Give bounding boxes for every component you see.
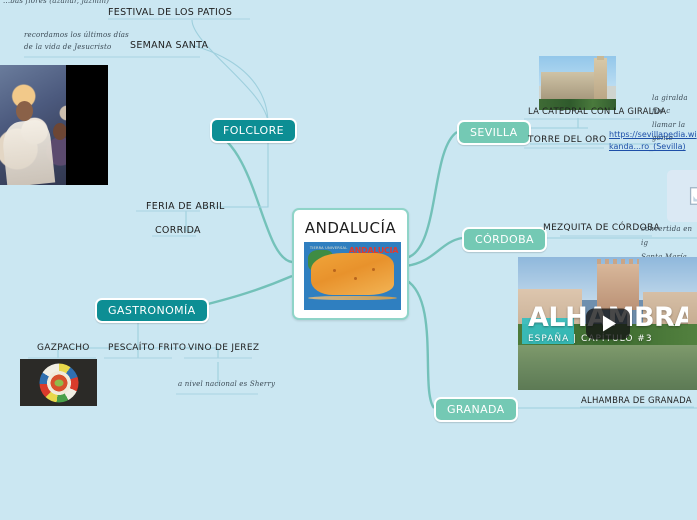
caption-la-catedral-con-la-giralda[interactable]: LA CATEDRAL CON LA GIRALDA [528, 107, 666, 117]
node-pescaito-frito[interactable]: PESCAÍTO FRITO [108, 343, 186, 353]
caption-alhambra-de-granada[interactable]: ALHAMBRA DE GRANADA [581, 396, 692, 406]
folclore-top-note: ...bas flores (azahar, jazmín) [3, 0, 109, 5]
play-icon[interactable] [586, 308, 630, 339]
central-node-andalucia[interactable]: ANDALUCÍA TIERRA UNIVERSAL ANDALUCIA [292, 208, 409, 320]
node-sevilla[interactable]: SEVILLA [457, 120, 531, 145]
vino-de-jerez-note: a nivel nacional es Sherry [178, 380, 275, 388]
node-gastronomia[interactable]: GASTRONOMÍA [95, 298, 209, 323]
mindmap-canvas[interactable]: ...bas flores (azahar, jazmín) FESTIVAL … [0, 0, 697, 520]
node-torre-del-oro[interactable]: TORRE DEL ORO [528, 135, 606, 145]
broken-image-placeholder[interactable] [667, 170, 697, 222]
node-gazpacho[interactable]: GAZPACHO [37, 343, 90, 353]
flamenco-painting-image[interactable] [0, 65, 108, 185]
broken-image-icon [686, 185, 697, 207]
node-semana-santa[interactable]: SEMANA SANTA [130, 40, 208, 51]
semana-santa-note: recordamos los últimos días de la vida d… [24, 30, 134, 54]
node-feria-de-abril[interactable]: FERIA DE ABRIL [146, 201, 225, 212]
sevilla-cathedral-image[interactable] [539, 56, 616, 110]
node-vino-de-jerez[interactable]: VINO DE JEREZ [188, 343, 259, 353]
gazpacho-photo-image[interactable] [20, 359, 97, 406]
alhambra-video-thumbnail[interactable]: ALHAMBRA ESPAÑA | CAPÍTULO #3 [518, 257, 697, 390]
andalucia-map-image[interactable]: TIERRA UNIVERSAL ANDALUCIA [304, 242, 401, 310]
node-folclore[interactable]: FOLCLORE [210, 118, 297, 143]
link-torre-del-oro[interactable]: https://sevillapedia.wikanda...ro_(Sevil… [609, 129, 697, 152]
node-festival-de-los-patios[interactable]: FESTIVAL DE LOS PATIOS [108, 7, 232, 18]
node-granada[interactable]: GRANADA [434, 397, 518, 422]
node-corrida[interactable]: CORRIDA [155, 225, 201, 236]
node-cordoba[interactable]: CÓRDOBA [462, 227, 547, 252]
